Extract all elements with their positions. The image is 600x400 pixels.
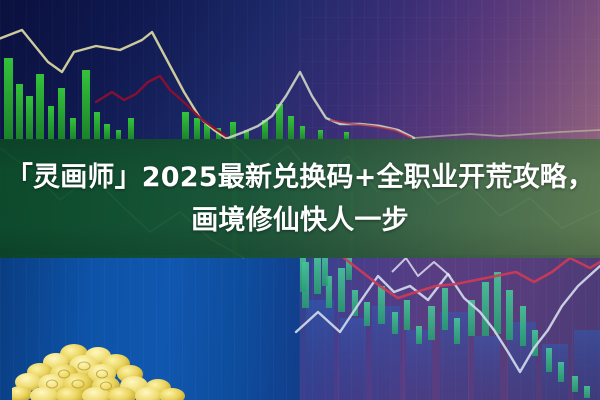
cream-trend-line [0,30,226,138]
upper-candles-group [4,58,349,140]
red-continuation-line [330,120,412,138]
title-line-1: 「灵画师」2025最新兑换码+全职业开荒攻略， [6,157,594,198]
banner-image: 「灵画师」2025最新兑换码+全职业开荒攻略， 画境修仙快人一步 [0,0,600,400]
cream-right-line [414,130,600,138]
lower-white-spike [392,258,450,276]
gold-coins-pile [12,342,187,400]
banner-title: 「灵画师」2025最新兑换码+全职业开荒攻略， 画境修仙快人一步 [0,139,600,258]
title-line-2: 画境修仙快人一步 [191,200,409,241]
